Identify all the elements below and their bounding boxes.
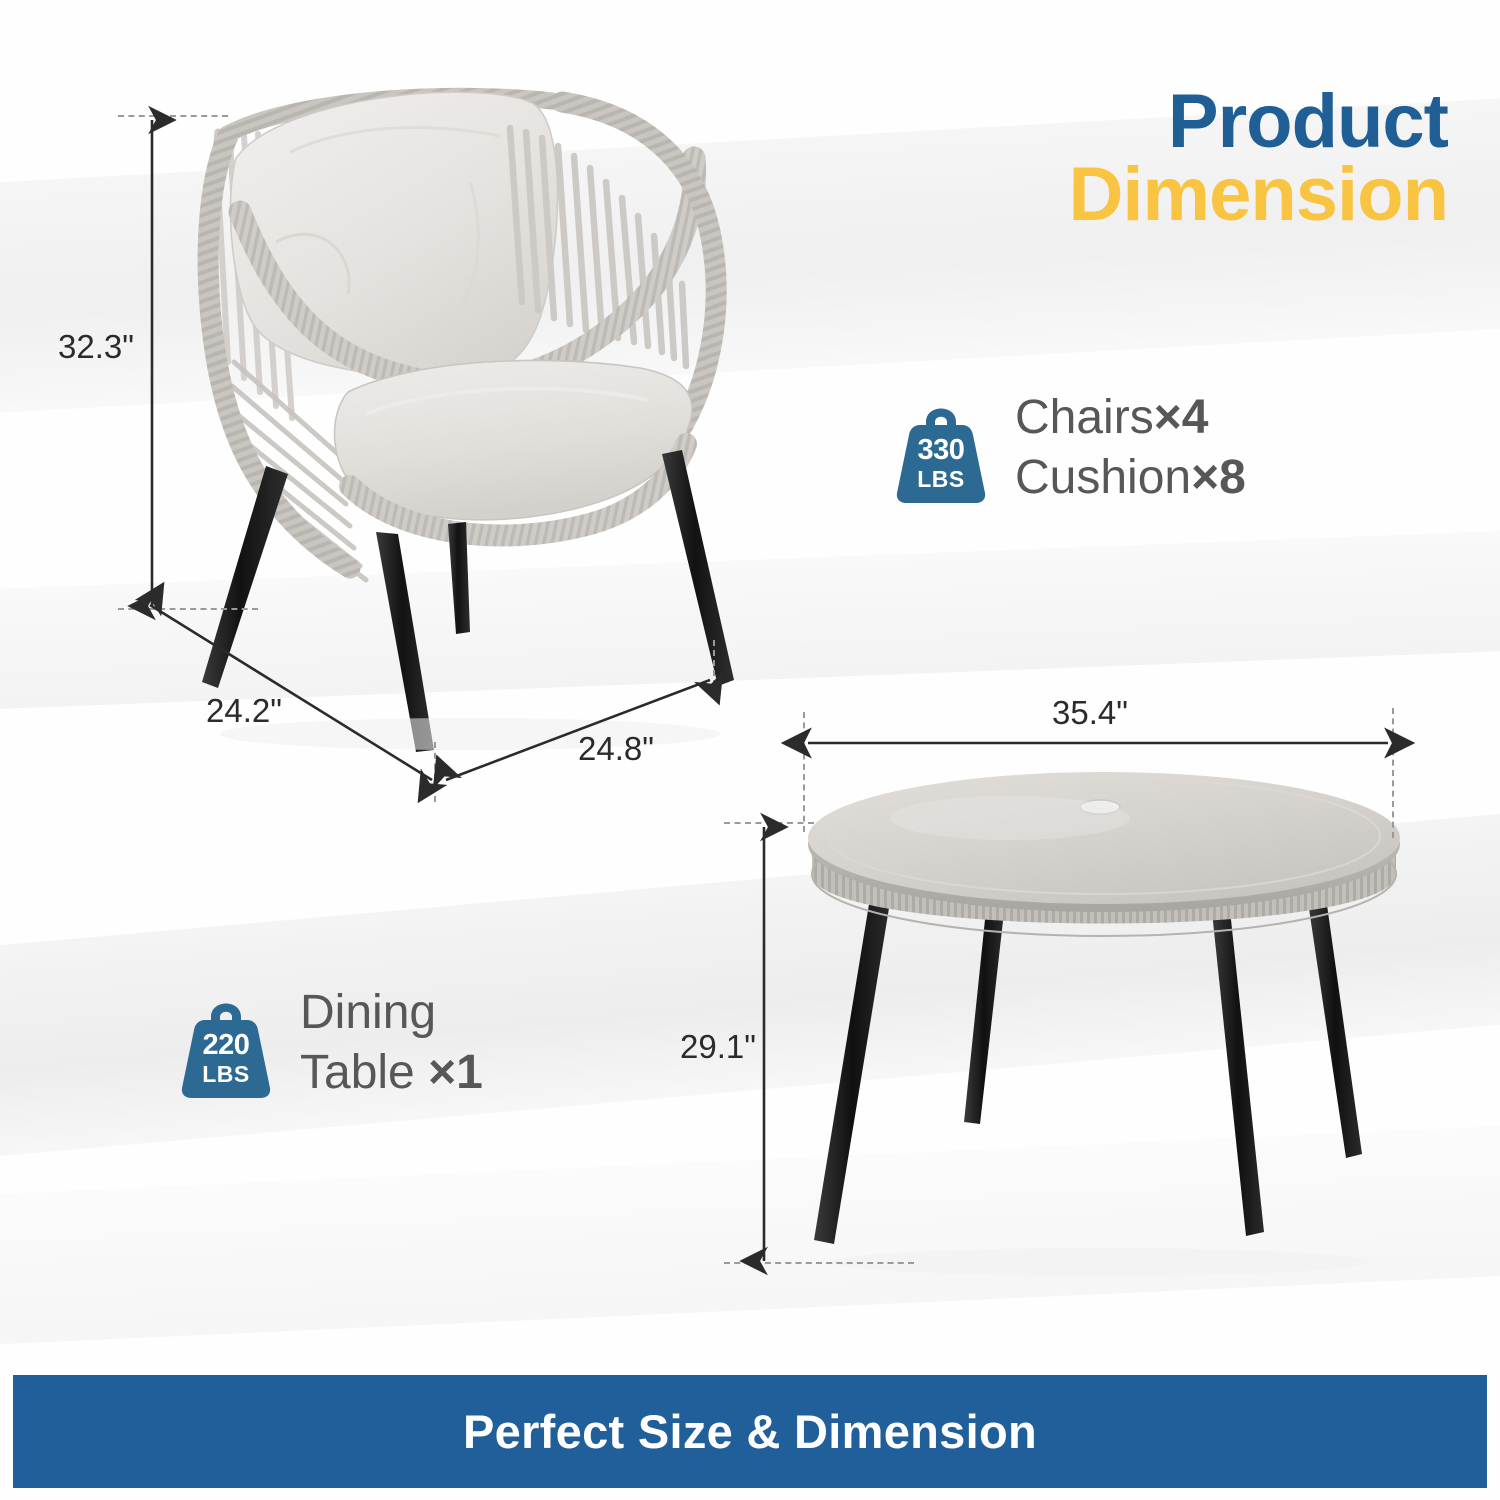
round-dining-table-image xyxy=(800,770,1420,1290)
table-width-dash-left xyxy=(803,712,805,832)
table-leg-front-right xyxy=(1212,910,1264,1236)
bottom-banner: Perfect Size & Dimension xyxy=(13,1375,1487,1488)
badge-line-qty: ×1 xyxy=(428,1046,483,1099)
badge-line: Chairs×4 xyxy=(1015,388,1246,448)
chair-height-dash-top xyxy=(118,115,228,117)
weight-icon: 220 LBS xyxy=(178,987,274,1099)
table-width-label: 35.4" xyxy=(1052,694,1128,732)
page-title: Product Dimension xyxy=(1069,86,1449,232)
weight-value: 330 xyxy=(893,434,989,467)
table-width-arrow xyxy=(798,732,1398,754)
badge-line-label: Dining xyxy=(300,986,436,1039)
badge-line: Table ×1 xyxy=(300,1043,483,1103)
title-line-dimension: Dimension xyxy=(1069,159,1449,232)
weight-unit: LBS xyxy=(893,466,989,493)
table-top-surface xyxy=(808,772,1400,904)
chair-height-arrow xyxy=(140,108,164,618)
badge-line-qty: ×8 xyxy=(1191,451,1246,504)
badge-line-label: Table xyxy=(300,1046,428,1099)
badge-chairs: 330 LBS Chairs×4 Cushion×8 xyxy=(893,388,1246,509)
chair-depth-right-label: 24.8" xyxy=(578,730,654,768)
badge-line: Dining xyxy=(300,983,483,1043)
badge-chairs-text: Chairs×4 Cushion×8 xyxy=(1015,388,1246,509)
badge-line-qty: ×4 xyxy=(1154,391,1209,444)
chair-depth-right-arrow xyxy=(438,670,720,788)
table-leg-front-left xyxy=(814,898,890,1244)
badge-line-label: Cushion xyxy=(1015,451,1191,504)
table-height-label: 29.1" xyxy=(680,1028,756,1066)
badge-dining-table: 220 LBS Dining Table ×1 xyxy=(178,983,483,1104)
chair-leg-front-right xyxy=(662,450,734,686)
infographic-canvas: Product Dimension xyxy=(0,0,1500,1500)
chair-depth-left-arrow xyxy=(140,595,450,795)
table-width-dash-right xyxy=(1392,708,1394,838)
weight-icon: 330 LBS xyxy=(893,392,989,504)
title-line-product: Product xyxy=(1069,86,1449,159)
table-leg-rear-left xyxy=(964,910,1004,1124)
weight-unit: LBS xyxy=(178,1061,274,1088)
chair-height-label: 32.3" xyxy=(58,328,134,366)
badge-line-label: Chairs xyxy=(1015,391,1154,444)
weight-value: 220 xyxy=(178,1029,274,1062)
badge-dining-table-text: Dining Table ×1 xyxy=(300,983,483,1104)
table-leg-rear-right xyxy=(1308,898,1362,1158)
banner-text: Perfect Size & Dimension xyxy=(463,1404,1037,1459)
badge-line: Cushion×8 xyxy=(1015,448,1246,508)
chair-depth-left-label: 24.2" xyxy=(206,692,282,730)
